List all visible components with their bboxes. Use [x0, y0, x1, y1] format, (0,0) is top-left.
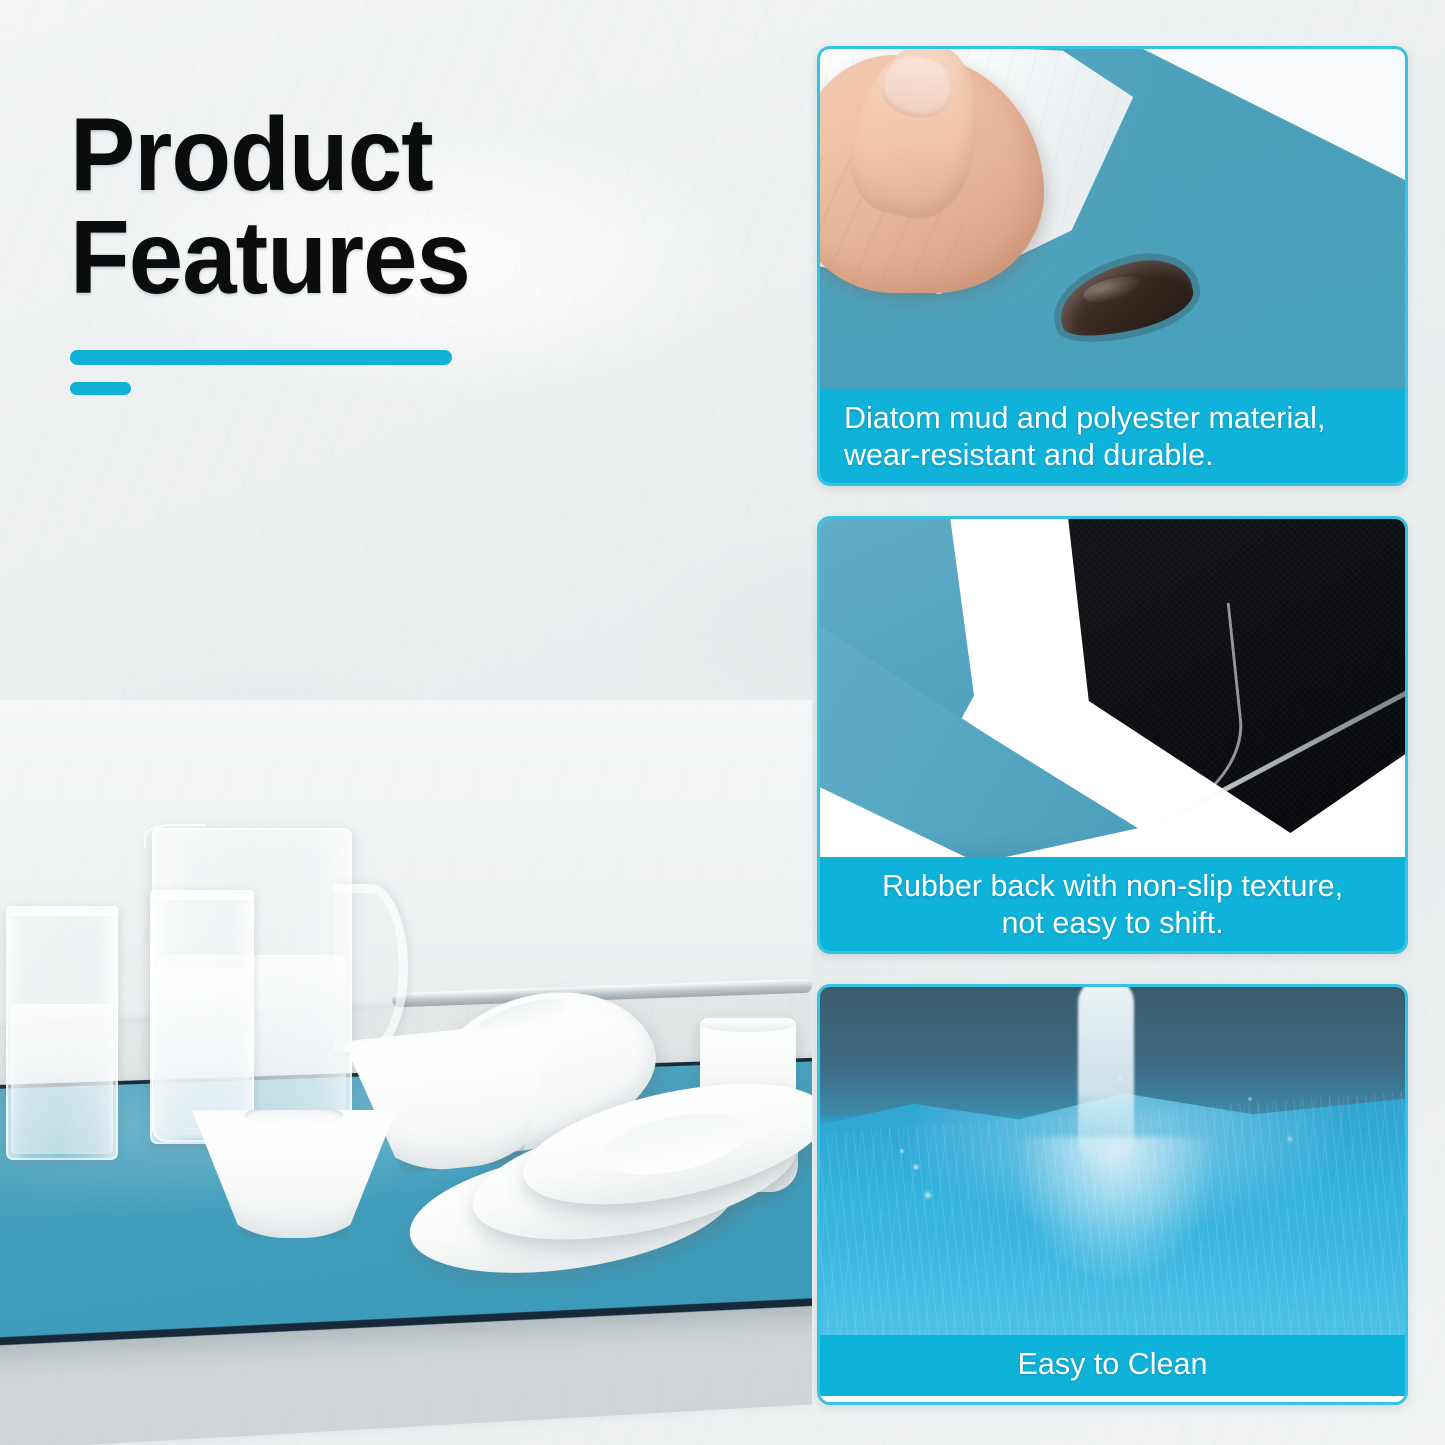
feature-image-non-slip [820, 519, 1405, 857]
lifestyle-photo [0, 700, 812, 1445]
water-glass [150, 890, 254, 1144]
page-title-block: Product Features [70, 104, 496, 310]
water-bubbles [820, 987, 1405, 1335]
accent-rule-short [70, 382, 131, 395]
feature-card-non-slip: Rubber back with non-slip texture, not e… [817, 516, 1408, 954]
feature-caption-non-slip: Rubber back with non-slip texture, not e… [820, 857, 1405, 954]
feature-caption-easy-clean: Easy to Clean [820, 1335, 1405, 1396]
page-title: Product Features [70, 104, 470, 310]
glass-rim [7, 907, 117, 916]
feature-image-easy-clean [820, 987, 1405, 1335]
water-glass [6, 906, 118, 1160]
feature-caption-material: Diatom mud and polyester material, wear-… [820, 389, 1405, 486]
accent-rule-long [70, 350, 452, 365]
feature-card-easy-clean: Easy to Clean [817, 984, 1408, 1405]
glass-water [11, 1004, 113, 1154]
feature-card-material: Diatom mud and polyester material, wear-… [817, 46, 1408, 486]
pitcher-spout [144, 824, 206, 848]
glass-rim [151, 891, 253, 900]
feature-image-material [820, 49, 1405, 389]
